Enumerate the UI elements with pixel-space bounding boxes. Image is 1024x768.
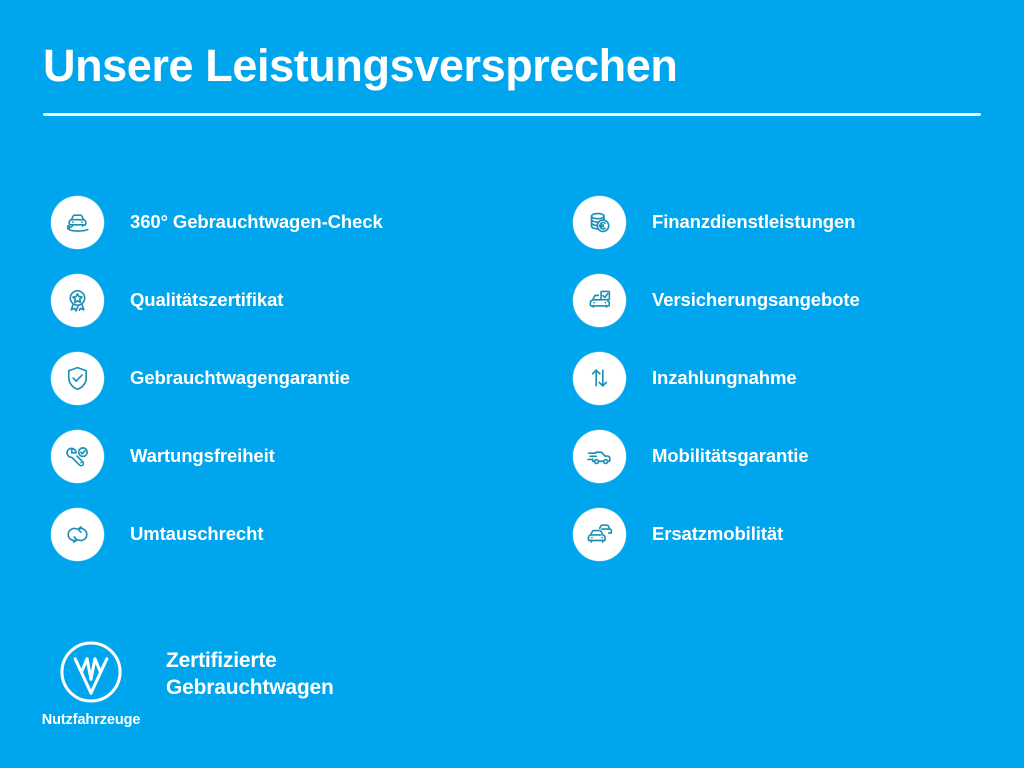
slide-canvas: Unsere Leistungsversprechen	[0, 0, 1024, 768]
brand-footer: Nutzfahrzeuge Zertifizierte Gebrauchtwag…	[37, 639, 334, 728]
brand-claim: Zertifizierte Gebrauchtwagen	[166, 648, 334, 702]
feature-item: Umtauschrecht	[51, 508, 521, 561]
feature-label: Finanzdienstleistungen	[652, 212, 855, 232]
feature-item: Qualitätszertifikat	[51, 274, 521, 327]
feature-label: Gebrauchtwagengarantie	[130, 368, 350, 388]
brand-claim-line-2: Gebrauchtwagen	[166, 675, 334, 702]
features-grid: 360° Gebrauchtwagen-Check Qualitätszerti…	[0, 196, 1024, 561]
feature-item: Mobilitätsgarantie	[573, 430, 1003, 483]
car-speed-lines-icon	[573, 430, 626, 483]
feature-label: Umtauschrecht	[130, 524, 263, 544]
brand-mark: Nutzfahrzeuge	[37, 639, 145, 728]
features-left-column: 360° Gebrauchtwagen-Check Qualitätszerti…	[51, 196, 521, 561]
car-360-check-icon	[51, 196, 104, 249]
features-right-column: Finanzdienstleistungen Versicheru	[573, 196, 1003, 561]
car-checkbox-icon	[573, 274, 626, 327]
shield-check-icon	[51, 352, 104, 405]
up-down-arrows-icon	[573, 352, 626, 405]
award-rosette-icon	[51, 274, 104, 327]
slide-header: Unsere Leistungsversprechen	[43, 42, 983, 116]
feature-item: Gebrauchtwagengarantie	[51, 352, 521, 405]
brand-division-label: Nutzfahrzeuge	[42, 712, 141, 728]
feature-item: Versicherungsangebote	[573, 274, 1003, 327]
exchange-arrows-icon	[51, 508, 104, 561]
euro-coins-icon	[573, 196, 626, 249]
feature-label: Versicherungsangebote	[652, 290, 860, 310]
page-title: Unsere Leistungsversprechen	[43, 42, 983, 91]
title-divider	[43, 113, 981, 116]
feature-item: 360° Gebrauchtwagen-Check	[51, 196, 521, 249]
feature-label: Ersatzmobilität	[652, 524, 783, 544]
feature-label: Qualitätszertifikat	[130, 290, 283, 310]
feature-label: Mobilitätsgarantie	[652, 446, 809, 466]
feature-label: Wartungsfreiheit	[130, 446, 275, 466]
feature-item: Wartungsfreiheit	[51, 430, 521, 483]
vw-roundel-icon	[58, 639, 124, 705]
feature-label: Inzahlungnahme	[652, 368, 797, 388]
feature-item: Ersatzmobilität	[573, 508, 1003, 561]
wrench-check-icon	[51, 430, 104, 483]
feature-item: Finanzdienstleistungen	[573, 196, 1003, 249]
brand-claim-line-1: Zertifizierte	[166, 648, 334, 675]
feature-label: 360° Gebrauchtwagen-Check	[130, 212, 383, 232]
two-cars-icon	[573, 508, 626, 561]
feature-item: Inzahlungnahme	[573, 352, 1003, 405]
